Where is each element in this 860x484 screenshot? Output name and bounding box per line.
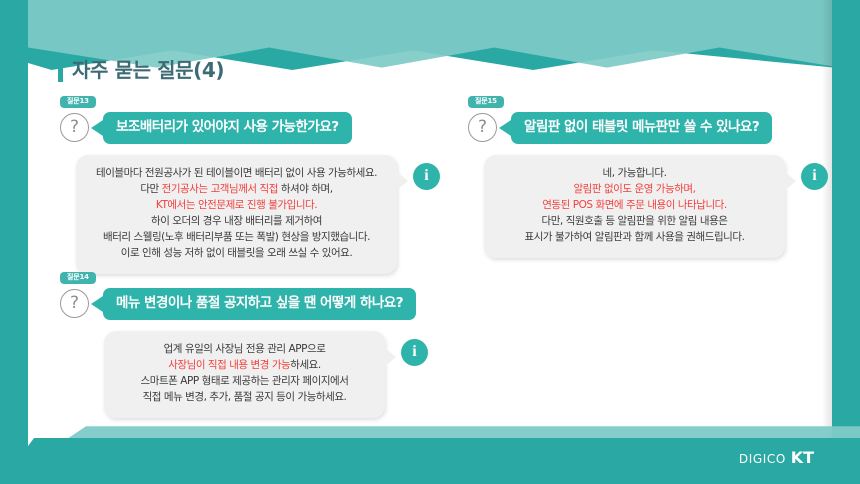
bottom-solid-decoration xyxy=(0,438,860,484)
question-row: ? 메뉴 변경이나 품절 공지하고 싶을 땐 어떻게 하나요? xyxy=(60,288,480,320)
info-icon: i xyxy=(801,163,828,190)
answer-highlight: KT에서는 안전문제로 진행 불가입니다. xyxy=(156,199,317,211)
answer-bubble: 네, 가능합니다.알림판 없이도 운영 가능하며,연동된 POS 화면에 주문 … xyxy=(484,155,785,258)
question-text: 메뉴 변경이나 품절 공지하고 싶을 땐 어떻게 하나요? xyxy=(103,288,416,320)
left-border-decoration xyxy=(0,0,28,484)
answer-line: 하이 오더의 경우 내장 배터리를 제거하여 xyxy=(94,214,379,230)
title-accent-bar xyxy=(58,56,63,82)
question-text: 알림판 없이 태블릿 메뉴판만 쓸 수 있나요? xyxy=(511,112,772,144)
question-badge: 질문13 xyxy=(60,96,96,108)
answer-line: 이로 인해 성능 저하 없이 태블릿을 오래 쓰실 수 있어요. xyxy=(94,246,379,262)
question-bubble-tail xyxy=(91,120,103,136)
info-icon: i xyxy=(413,163,440,190)
question-mark-icon: ? xyxy=(468,113,497,142)
answer-line: 네, 가능합니다. xyxy=(502,166,767,182)
answer-highlight: 알림판 없이도 운영 가능하며, xyxy=(573,183,695,195)
question-badge: 질문15 xyxy=(468,96,504,108)
answer-bubble: 업계 유일의 사장님 전용 관리 APP으로사장님이 직접 내용 변경 가능하세… xyxy=(104,331,385,418)
answer-highlight: 전기공사는 고객님께서 직접 xyxy=(162,183,278,195)
answer-highlight: 연동된 POS 화면에 주문 내용이 나타납니다. xyxy=(542,199,727,211)
answer-line: 업계 유일의 사장님 전용 관리 APP으로 xyxy=(122,342,367,358)
answer-bubble: 테이블마다 전원공사가 된 테이블이면 배터리 없이 사용 가능하세요.다만 전… xyxy=(76,155,397,274)
answer-line: 알림판 없이도 운영 가능하며, xyxy=(502,182,767,198)
question-bubble-tail xyxy=(91,296,103,312)
answer-line: 다만, 직원호출 등 알림판을 위한 알림 내용은 xyxy=(502,214,767,230)
content-area: 자주 묻는 질문(4) 질문13 ? 보조배터리가 있어야지 사용 가능한가요?… xyxy=(28,72,832,412)
right-border-decoration xyxy=(832,0,860,484)
brand-kt-text: KT xyxy=(791,448,814,467)
page-title: 자주 묻는 질문(4) xyxy=(58,54,224,83)
answer-line: 직접 메뉴 변경, 추가, 품절 공지 등이 가능하세요. xyxy=(122,390,367,406)
answer-row: 업계 유일의 사장님 전용 관리 APP으로사장님이 직접 내용 변경 가능하세… xyxy=(104,331,428,418)
answer-line: 다만 전기공사는 고객님께서 직접 하셔야 하며, xyxy=(94,182,379,198)
answer-line: 배터리 스웰링(노후 배터리부품 또는 폭발) 현상을 방지했습니다. xyxy=(94,230,379,246)
question-row: ? 알림판 없이 태블릿 메뉴판만 쓸 수 있나요? xyxy=(468,112,828,144)
brand-logo: DIGICO KT xyxy=(739,448,814,467)
slide-root: DIGICO KT 자주 묻는 질문(4) 질문13 ? 보조배터리가 있어야지… xyxy=(0,0,860,484)
faq-item-3: 질문14 ? 메뉴 변경이나 품절 공지하고 싶을 땐 어떻게 하나요? 업계 … xyxy=(60,264,480,418)
page-title-text: 자주 묻는 질문(4) xyxy=(72,54,224,83)
answer-row: 네, 가능합니다.알림판 없이도 운영 가능하며,연동된 POS 화면에 주문 … xyxy=(484,155,828,258)
answer-line: KT에서는 안전문제로 진행 불가입니다. xyxy=(94,198,379,214)
question-row: ? 보조배터리가 있어야지 사용 가능한가요? xyxy=(60,112,440,144)
question-badge: 질문14 xyxy=(60,272,96,284)
answer-line: 연동된 POS 화면에 주문 내용이 나타납니다. xyxy=(502,198,767,214)
faq-item-1: 질문13 ? 보조배터리가 있어야지 사용 가능한가요? 테이블마다 전원공사가… xyxy=(60,88,440,274)
answer-row: 테이블마다 전원공사가 된 테이블이면 배터리 없이 사용 가능하세요.다만 전… xyxy=(76,155,440,274)
answer-line: 표시가 불가하여 알림판과 함께 사용을 권해드립니다. xyxy=(502,230,767,246)
question-mark-icon: ? xyxy=(60,113,89,142)
answer-highlight: 사장님이 직접 내용 변경 가능 xyxy=(168,359,290,371)
question-mark-icon: ? xyxy=(60,289,89,318)
faq-item-2: 질문15 ? 알림판 없이 태블릿 메뉴판만 쓸 수 있나요? 네, 가능합니다… xyxy=(468,88,828,258)
answer-line: 테이블마다 전원공사가 된 테이블이면 배터리 없이 사용 가능하세요. xyxy=(94,166,379,182)
question-text: 보조배터리가 있어야지 사용 가능한가요? xyxy=(103,112,352,144)
brand-digico-text: DIGICO xyxy=(739,452,786,466)
question-bubble-tail xyxy=(499,120,511,136)
answer-line: 스마트폰 APP 형태로 제공하는 관리자 페이지에서 xyxy=(122,374,367,390)
info-icon: i xyxy=(401,339,428,366)
answer-line: 사장님이 직접 내용 변경 가능하세요. xyxy=(122,358,367,374)
